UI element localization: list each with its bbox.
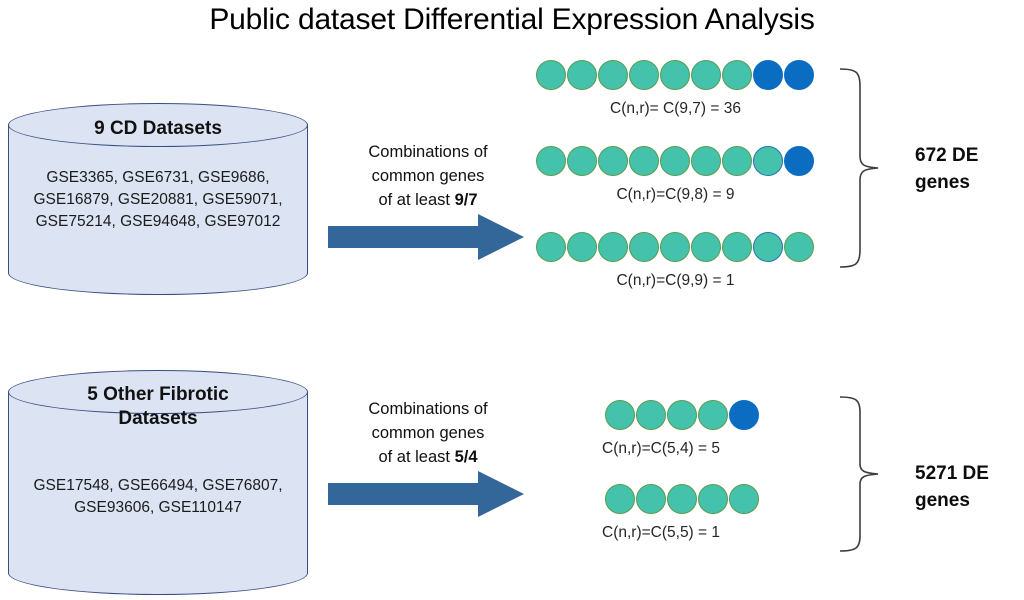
gene-circle-teal-highlighted: [753, 232, 783, 262]
fibrotic-dataset-line-1: GSE17548, GSE66494, GSE76807,: [8, 475, 308, 497]
gene-circle-teal: [567, 232, 597, 262]
fibrotic-combination-row-5-5: C(n,r)=C(5,5) = 1: [605, 484, 760, 543]
gene-circle-blue: [753, 60, 783, 90]
cd-combination-row-9-7: C(n,r)= C(9,7) = 36: [536, 60, 815, 119]
gene-circle-teal: [536, 232, 566, 262]
gene-circle-teal: [567, 60, 597, 90]
gene-circle-teal-highlighted: [753, 146, 783, 176]
fibrotic-total-line-1: 5271 DE: [915, 460, 989, 487]
gene-circle-blue: [784, 146, 814, 176]
gene-circle-teal: [636, 400, 666, 430]
arrow-shaft: [328, 226, 480, 248]
fibrotic-arrow-caption-line-3: of at least 5/4: [328, 445, 528, 469]
gene-circle-teal: [598, 232, 628, 262]
cd-arrow-caption-line-1: Combinations of: [328, 140, 528, 164]
gene-circle-teal: [691, 232, 721, 262]
gene-circle-teal: [605, 400, 635, 430]
cd-combination-row-9-9: C(n,r)=C(9,9) = 1: [536, 232, 815, 291]
gene-circle-teal: [691, 146, 721, 176]
fibrotic-cylinder-heading-line-2: Datasets: [8, 407, 308, 431]
arrow-head: [478, 471, 524, 517]
gene-circle-teal: [722, 232, 752, 262]
gene-circle-teal: [605, 484, 635, 514]
cd-total-line-1: 672 DE: [915, 142, 978, 169]
fibrotic-brace: [838, 394, 888, 554]
gene-circle-teal: [691, 60, 721, 90]
gene-circle-blue: [729, 400, 759, 430]
fibrotic-combinations-arrow-block: Combinations of common genes of at least…: [328, 397, 528, 517]
gene-circle-teal: [660, 146, 690, 176]
cd-total-de-genes: 672 DE genes: [915, 142, 978, 196]
cd-row-9-9-circles: [536, 232, 815, 262]
gene-circle-teal: [729, 484, 759, 514]
cd-combinations-arrow-block: Combinations of common genes of at least…: [328, 140, 528, 260]
cd-arrow-caption-line-3: of at least 9/7: [328, 188, 528, 212]
gene-circle-blue: [784, 60, 814, 90]
page-title: Public dataset Differential Expression A…: [0, 0, 1024, 40]
gene-circle-teal: [567, 146, 597, 176]
gene-circle-teal: [667, 484, 697, 514]
cd-dataset-line-3: GSE75214, GSE94648, GSE97012: [8, 211, 308, 233]
fibrotic-arrow-caption-line-2: common genes: [328, 421, 528, 445]
gene-circle-teal: [629, 146, 659, 176]
fibrotic-row-5-5-circles: [605, 484, 760, 514]
cd-brace: [838, 66, 888, 270]
cd-arrow-threshold: 9/7: [455, 191, 478, 209]
gene-circle-teal: [722, 60, 752, 90]
cd-arrow-shape: [328, 214, 524, 260]
gene-circle-teal: [667, 400, 697, 430]
cd-arrow-caption-prefix: of at least: [378, 191, 454, 209]
fibrotic-arrow-caption-line-1: Combinations of: [328, 397, 528, 421]
fibrotic-combination-row-5-4: C(n,r)=C(5,4) = 5: [605, 400, 760, 459]
cd-row-9-7-circles: [536, 60, 815, 90]
gene-circle-teal: [636, 484, 666, 514]
fibrotic-arrow-shape: [328, 471, 524, 517]
gene-circle-teal: [698, 400, 728, 430]
fibrotic-arrow-caption-prefix: of at least: [378, 448, 454, 466]
fibrotic-row-5-5-label: C(n,r)=C(5,5) = 1: [602, 523, 760, 543]
gene-circle-teal: [660, 232, 690, 262]
fibrotic-row-5-4-circles: [605, 400, 760, 430]
gene-circle-teal: [598, 146, 628, 176]
arrow-shaft: [328, 483, 480, 505]
gene-circle-teal: [536, 146, 566, 176]
cd-dataset-line-1: GSE3365, GSE6731, GSE9686,: [8, 167, 308, 189]
cd-cylinder-heading: 9 CD Datasets: [8, 117, 308, 141]
cd-datasets-cylinder: 9 CD Datasets GSE3365, GSE6731, GSE9686,…: [8, 103, 308, 295]
cd-dataset-line-2: GSE16879, GSE20881, GSE59071,: [8, 189, 308, 211]
cd-row-9-9-label: C(n,r)=C(9,9) = 1: [536, 271, 815, 291]
gene-circle-teal: [598, 60, 628, 90]
fibrotic-cylinder-heading-line-1: 5 Other Fibrotic: [8, 383, 308, 407]
gene-circle-teal: [629, 232, 659, 262]
gene-circle-teal: [784, 232, 814, 262]
gene-circle-teal: [722, 146, 752, 176]
gene-circle-teal: [698, 484, 728, 514]
fibrotic-total-line-2: genes: [915, 487, 989, 514]
cd-arrow-caption-line-2: common genes: [328, 164, 528, 188]
cd-combination-row-9-8: C(n,r)=C(9,8) = 9: [536, 146, 815, 205]
cd-row-9-8-label: C(n,r)=C(9,8) = 9: [536, 185, 815, 205]
gene-circle-teal: [660, 60, 690, 90]
gene-circle-teal: [629, 60, 659, 90]
arrow-head: [478, 214, 524, 260]
cd-row-9-7-label: C(n,r)= C(9,7) = 36: [536, 99, 815, 119]
cd-total-line-2: genes: [915, 169, 978, 196]
fibrotic-total-de-genes: 5271 DE genes: [915, 460, 989, 514]
fibrotic-datasets-cylinder: 5 Other Fibrotic Datasets GSE17548, GSE6…: [8, 370, 308, 595]
fibrotic-dataset-line-2: GSE93606, GSE110147: [8, 497, 308, 519]
fibrotic-row-5-4-label: C(n,r)=C(5,4) = 5: [602, 439, 760, 459]
gene-circle-teal: [536, 60, 566, 90]
cd-row-9-8-circles: [536, 146, 815, 176]
fibrotic-arrow-threshold: 5/4: [455, 448, 478, 466]
